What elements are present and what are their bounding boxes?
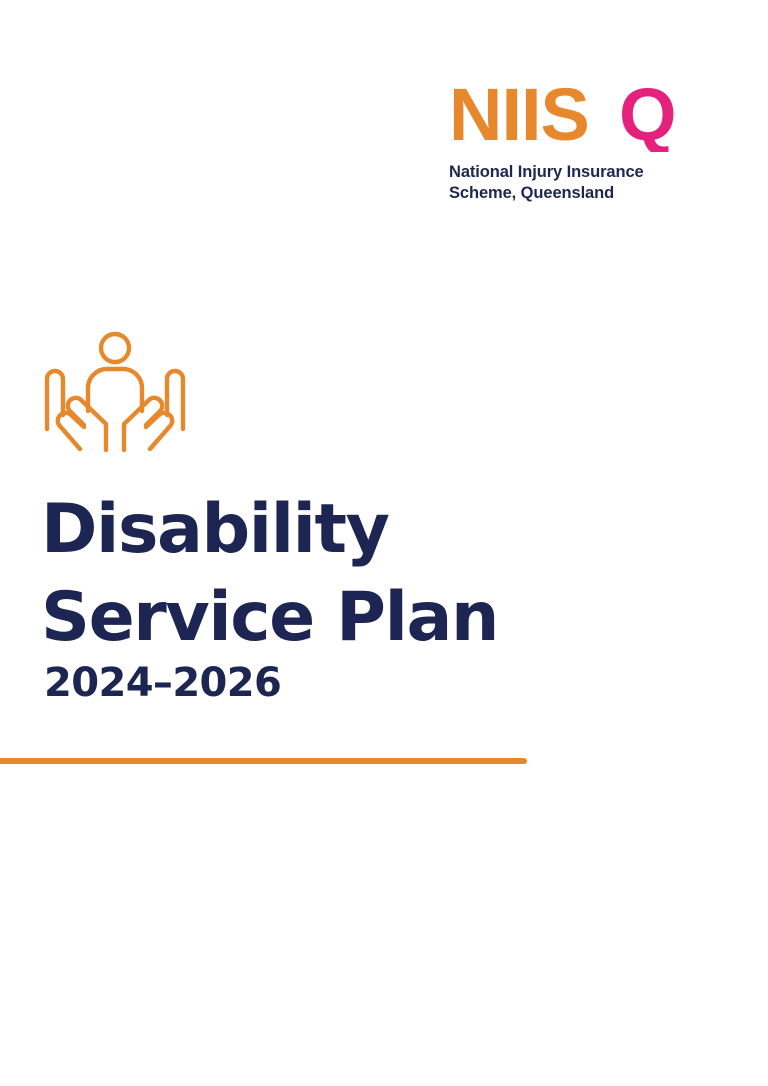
page-subtitle-years: 2024–2026 [44, 663, 281, 703]
person-body-shape [88, 369, 142, 411]
logo-subtitle-line-2: Scheme, Queensland [449, 183, 709, 204]
niisq-wordmark-logo: NIIS Q [449, 80, 705, 152]
logo-subtitle: National Injury Insurance Scheme, Queens… [449, 162, 709, 205]
document-cover-page: NIIS Q National Injury Insurance Scheme,… [0, 0, 768, 1086]
niisq-logo: NIIS Q National Injury Insurance Scheme,… [449, 80, 709, 205]
accent-rule-divider [0, 758, 527, 764]
logo-subtitle-line-1: National Injury Insurance [449, 162, 709, 183]
wordmark-q-text: Q [619, 80, 676, 152]
page-title: Disability Service Plan [41, 497, 701, 651]
page-title-line-2: Service Plan [41, 585, 701, 651]
person-head-shape [101, 334, 129, 362]
page-title-line-1: Disability [41, 497, 701, 563]
right-hand-thumb-shape [167, 371, 183, 429]
wordmark-niis-text: NIIS [449, 80, 589, 152]
left-hand-thumb-shape [47, 371, 63, 429]
supporting-hands-person-icon [44, 331, 186, 453]
